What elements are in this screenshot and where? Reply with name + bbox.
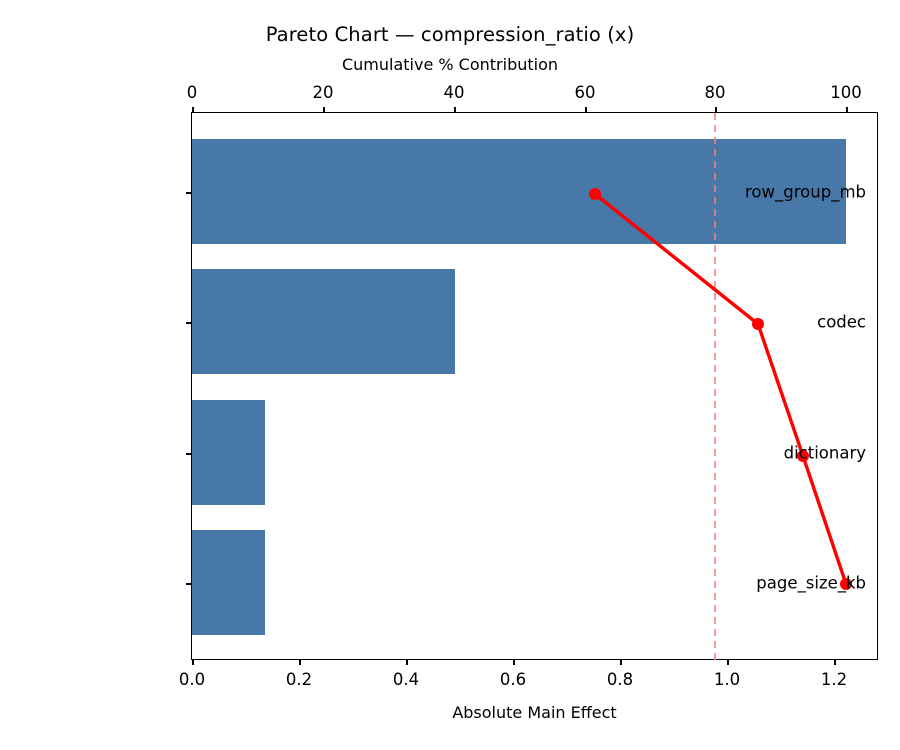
y-tick-codec [186,322,192,324]
bottom-tick-0.0 [192,659,194,665]
y-tick-label-page-size-kb: page_size_kb [756,574,866,593]
bottom-tick-label-0.0: 0.0 [179,670,205,689]
pareto-chart-figure: Pareto Chart — compression_ratio (x) Cum… [0,0,900,750]
bottom-tick-1.2 [834,659,836,665]
x-axis-label: Absolute Main Effect [191,703,878,722]
top-axis-label: Cumulative % Contribution [0,55,900,74]
bottom-tick-label-0.6: 0.6 [500,670,526,689]
cumulative-percent-line [595,194,846,584]
cumulative-marker-row-group-mb [589,188,601,200]
bottom-tick-0.2 [299,659,301,665]
y-tick-label-dictionary: dictionary [784,444,866,463]
bottom-tick-label-1.0: 1.0 [714,670,740,689]
bottom-tick-0.6 [513,659,515,665]
y-tick-row-group-mb [186,192,192,194]
top-tick-label-20: 20 [313,83,334,102]
top-tick-label-0: 0 [187,83,198,102]
top-tick-40 [454,107,456,113]
bottom-tick-0.4 [406,659,408,665]
y-tick-label-row-group-mb: row_group_mb [745,183,866,202]
bottom-tick-1.0 [727,659,729,665]
y-tick-label-codec: codec [817,313,866,332]
top-tick-100 [846,107,848,113]
page-title: Pareto Chart — compression_ratio (x) [0,23,900,46]
y-tick-dictionary [186,453,192,455]
y-tick-page-size-kb [186,583,192,585]
top-tick-label-60: 60 [575,83,596,102]
top-tick-label-40: 40 [444,83,465,102]
top-tick-60 [585,107,587,113]
bottom-tick-label-0.4: 0.4 [393,670,419,689]
cumulative-marker-codec [752,318,764,330]
bottom-tick-0.8 [620,659,622,665]
top-tick-label-100: 100 [830,83,862,102]
top-tick-label-80: 80 [705,83,726,102]
bottom-tick-label-0.8: 0.8 [607,670,633,689]
bottom-tick-label-0.2: 0.2 [286,670,312,689]
top-tick-0 [192,107,194,113]
bottom-tick-label-1.2: 1.2 [821,670,847,689]
top-tick-80 [715,107,717,113]
top-tick-20 [323,107,325,113]
plot-area: 0 20 40 60 80 100 0.0 0.2 0.4 0.6 0.8 1.… [191,112,878,660]
